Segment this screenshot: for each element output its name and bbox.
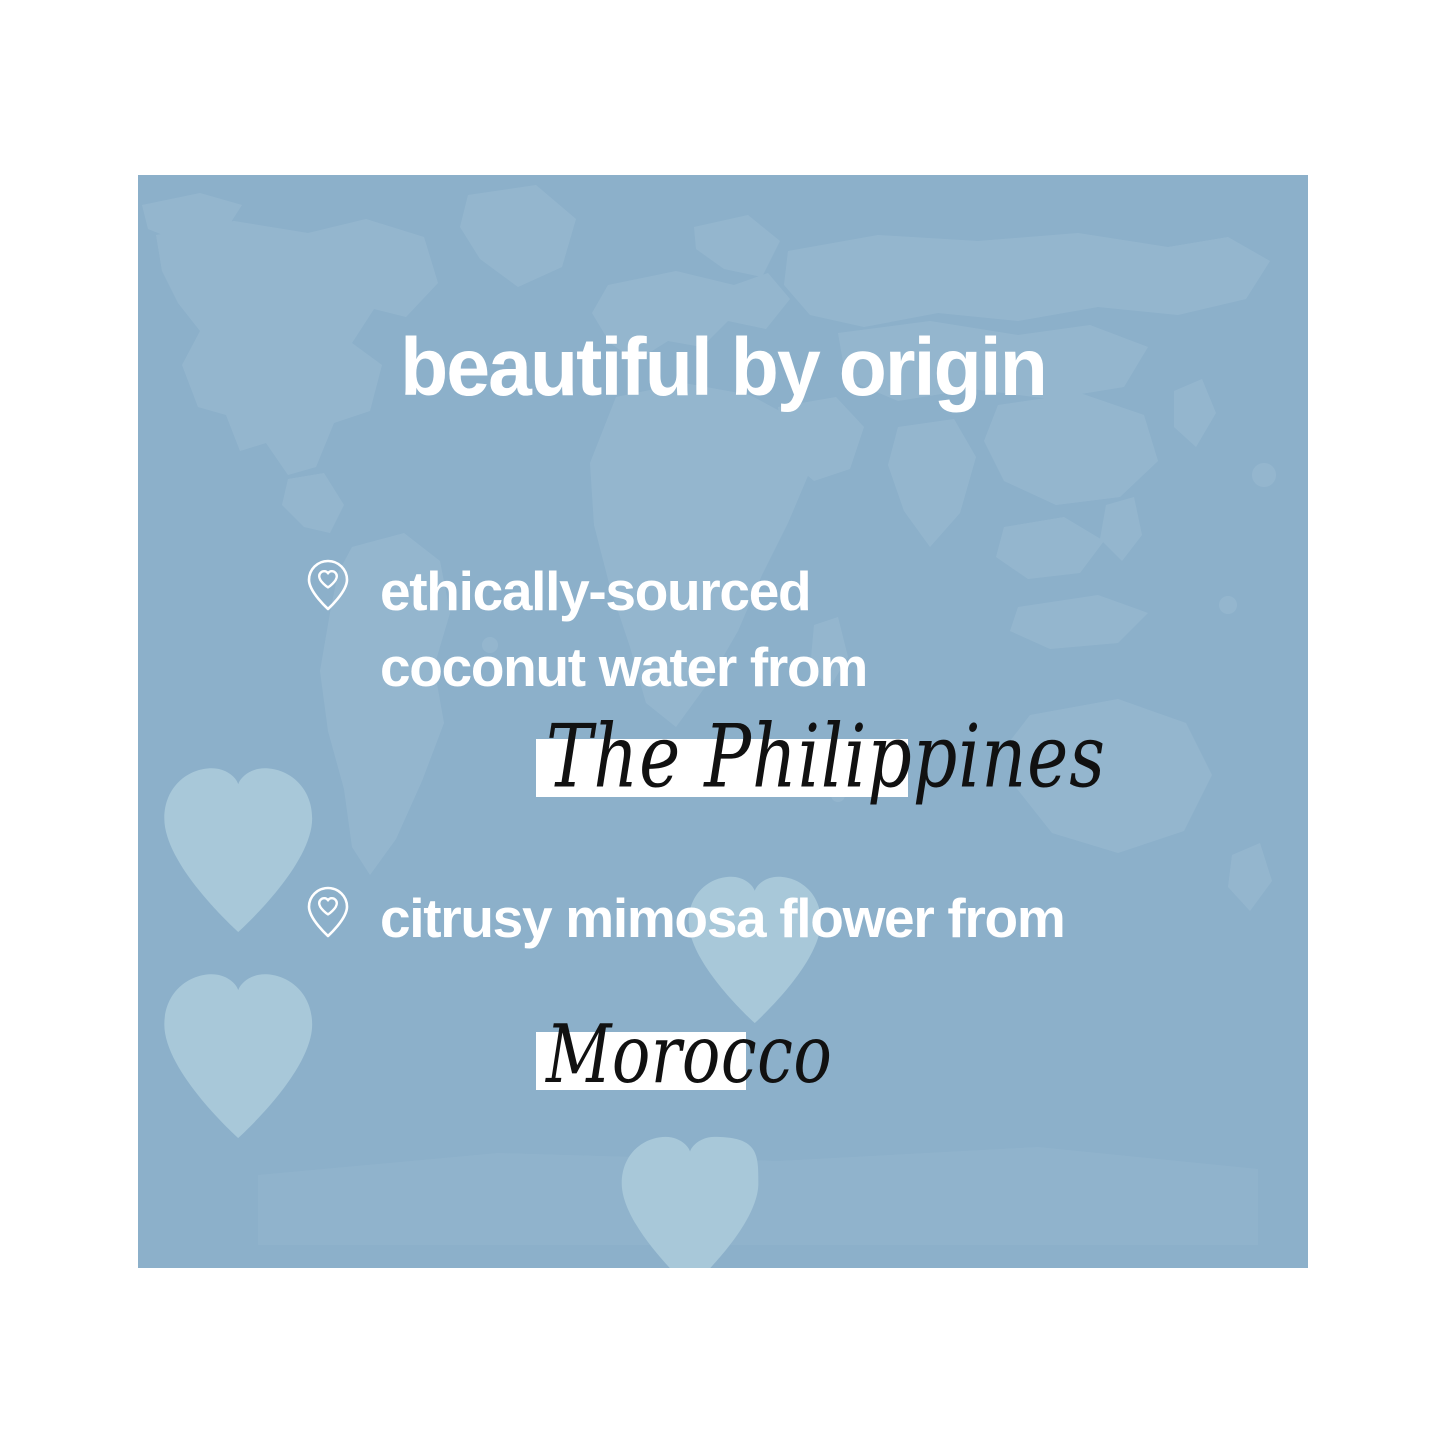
origin-highlight-morocco: Morocco bbox=[536, 1032, 746, 1095]
bullet-line: coconut water from bbox=[380, 629, 867, 705]
blue-panel: beautiful by origin ethically-sourced co… bbox=[138, 175, 1308, 1268]
origin-item-mimosa: citrusy mimosa flower from Morocco bbox=[306, 880, 1064, 956]
highlight-band: The Philippines bbox=[536, 739, 908, 797]
bullet-line: citrusy mimosa flower from bbox=[380, 880, 1064, 956]
origin-item-coconut-text: ethically-sourced coconut water from bbox=[380, 553, 867, 705]
page-title: beautiful by origin bbox=[161, 327, 1284, 409]
origin-item-mimosa-text: citrusy mimosa flower from bbox=[380, 880, 1064, 956]
origin-country-name: Morocco bbox=[546, 995, 832, 1118]
origin-highlight-philippines: The Philippines bbox=[536, 739, 908, 802]
panel-content: beautiful by origin ethically-sourced co… bbox=[138, 175, 1308, 1268]
map-pin-heart-icon bbox=[306, 886, 350, 938]
image-canvas: beautiful by origin ethically-sourced co… bbox=[0, 0, 1445, 1445]
origin-item-coconut: ethically-sourced coconut water from The… bbox=[306, 553, 867, 705]
map-pin-heart-icon bbox=[306, 559, 350, 611]
bullet-line: ethically-sourced bbox=[380, 553, 867, 629]
highlight-band: Morocco bbox=[536, 1032, 746, 1090]
origin-country-name: The Philippines bbox=[546, 696, 1106, 819]
